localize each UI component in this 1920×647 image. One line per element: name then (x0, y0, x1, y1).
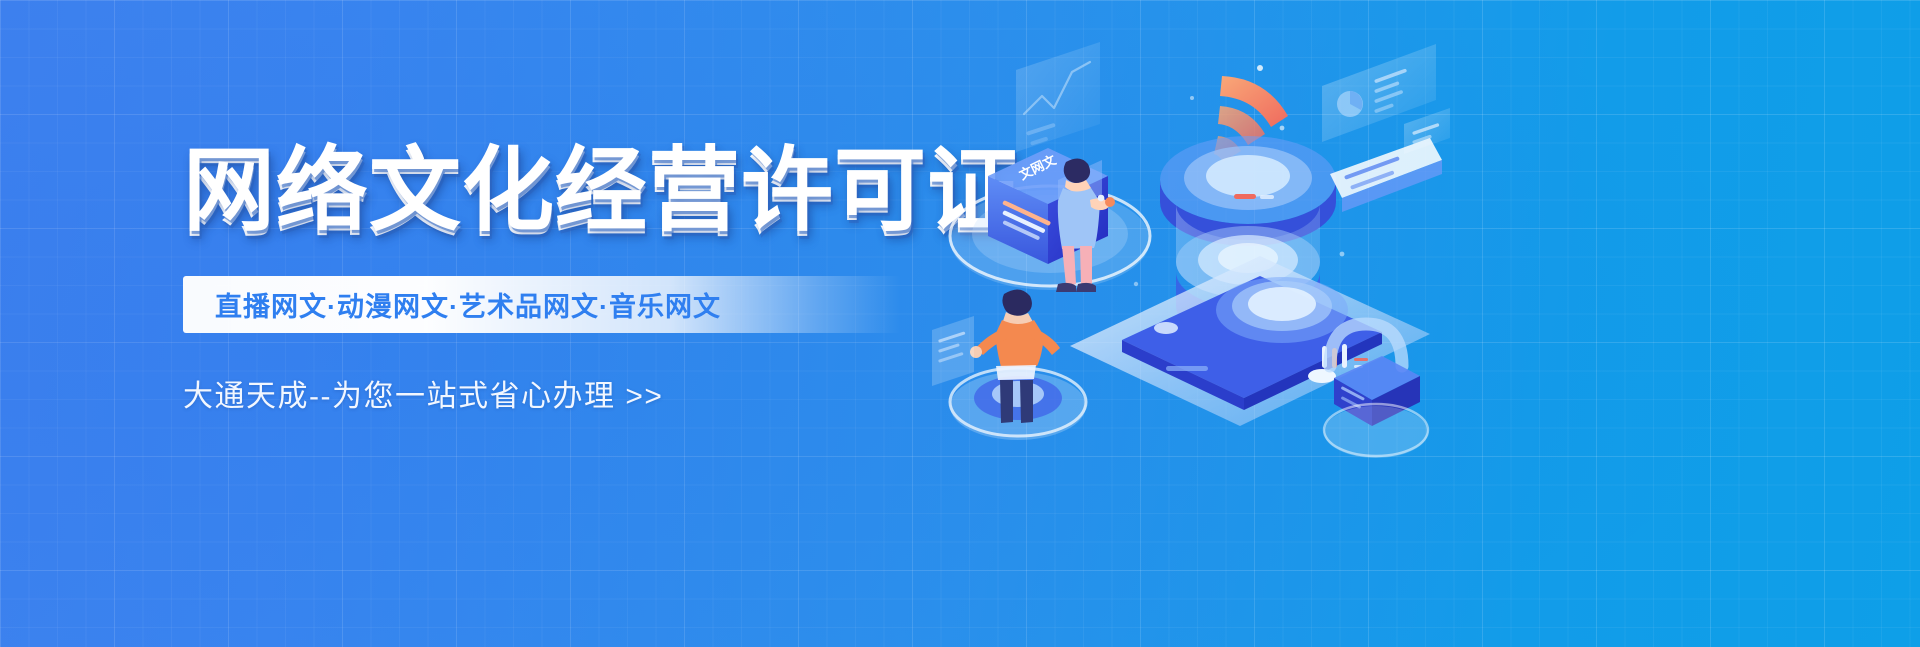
banner-title-peach-overlay: 网络文化经营许可证 (183, 143, 1020, 241)
chart-panel-icon (1016, 42, 1100, 152)
banner-tagline: 大通天成--为您一站式省心办理 >> (183, 371, 943, 415)
subtitle-bar-text: 直播网文·动漫网文·艺术品网文·音乐网文 (215, 285, 721, 324)
promo-banner: 网络文化经营许可证 网络文化经营许可证 直播网文·动漫网文·艺术品网文·音乐网文… (0, 0, 1920, 647)
list-card (1330, 138, 1442, 212)
banner-copy: 网络文化经营许可证 网络文化经营许可证 直播网文·动漫网文·艺术品网文·音乐网文… (183, 148, 943, 415)
hero-illustration: 文网文 (930, 28, 1450, 448)
subtitle-bar: 直播网文·动漫网文·艺术品网文·音乐网文 (183, 276, 901, 333)
